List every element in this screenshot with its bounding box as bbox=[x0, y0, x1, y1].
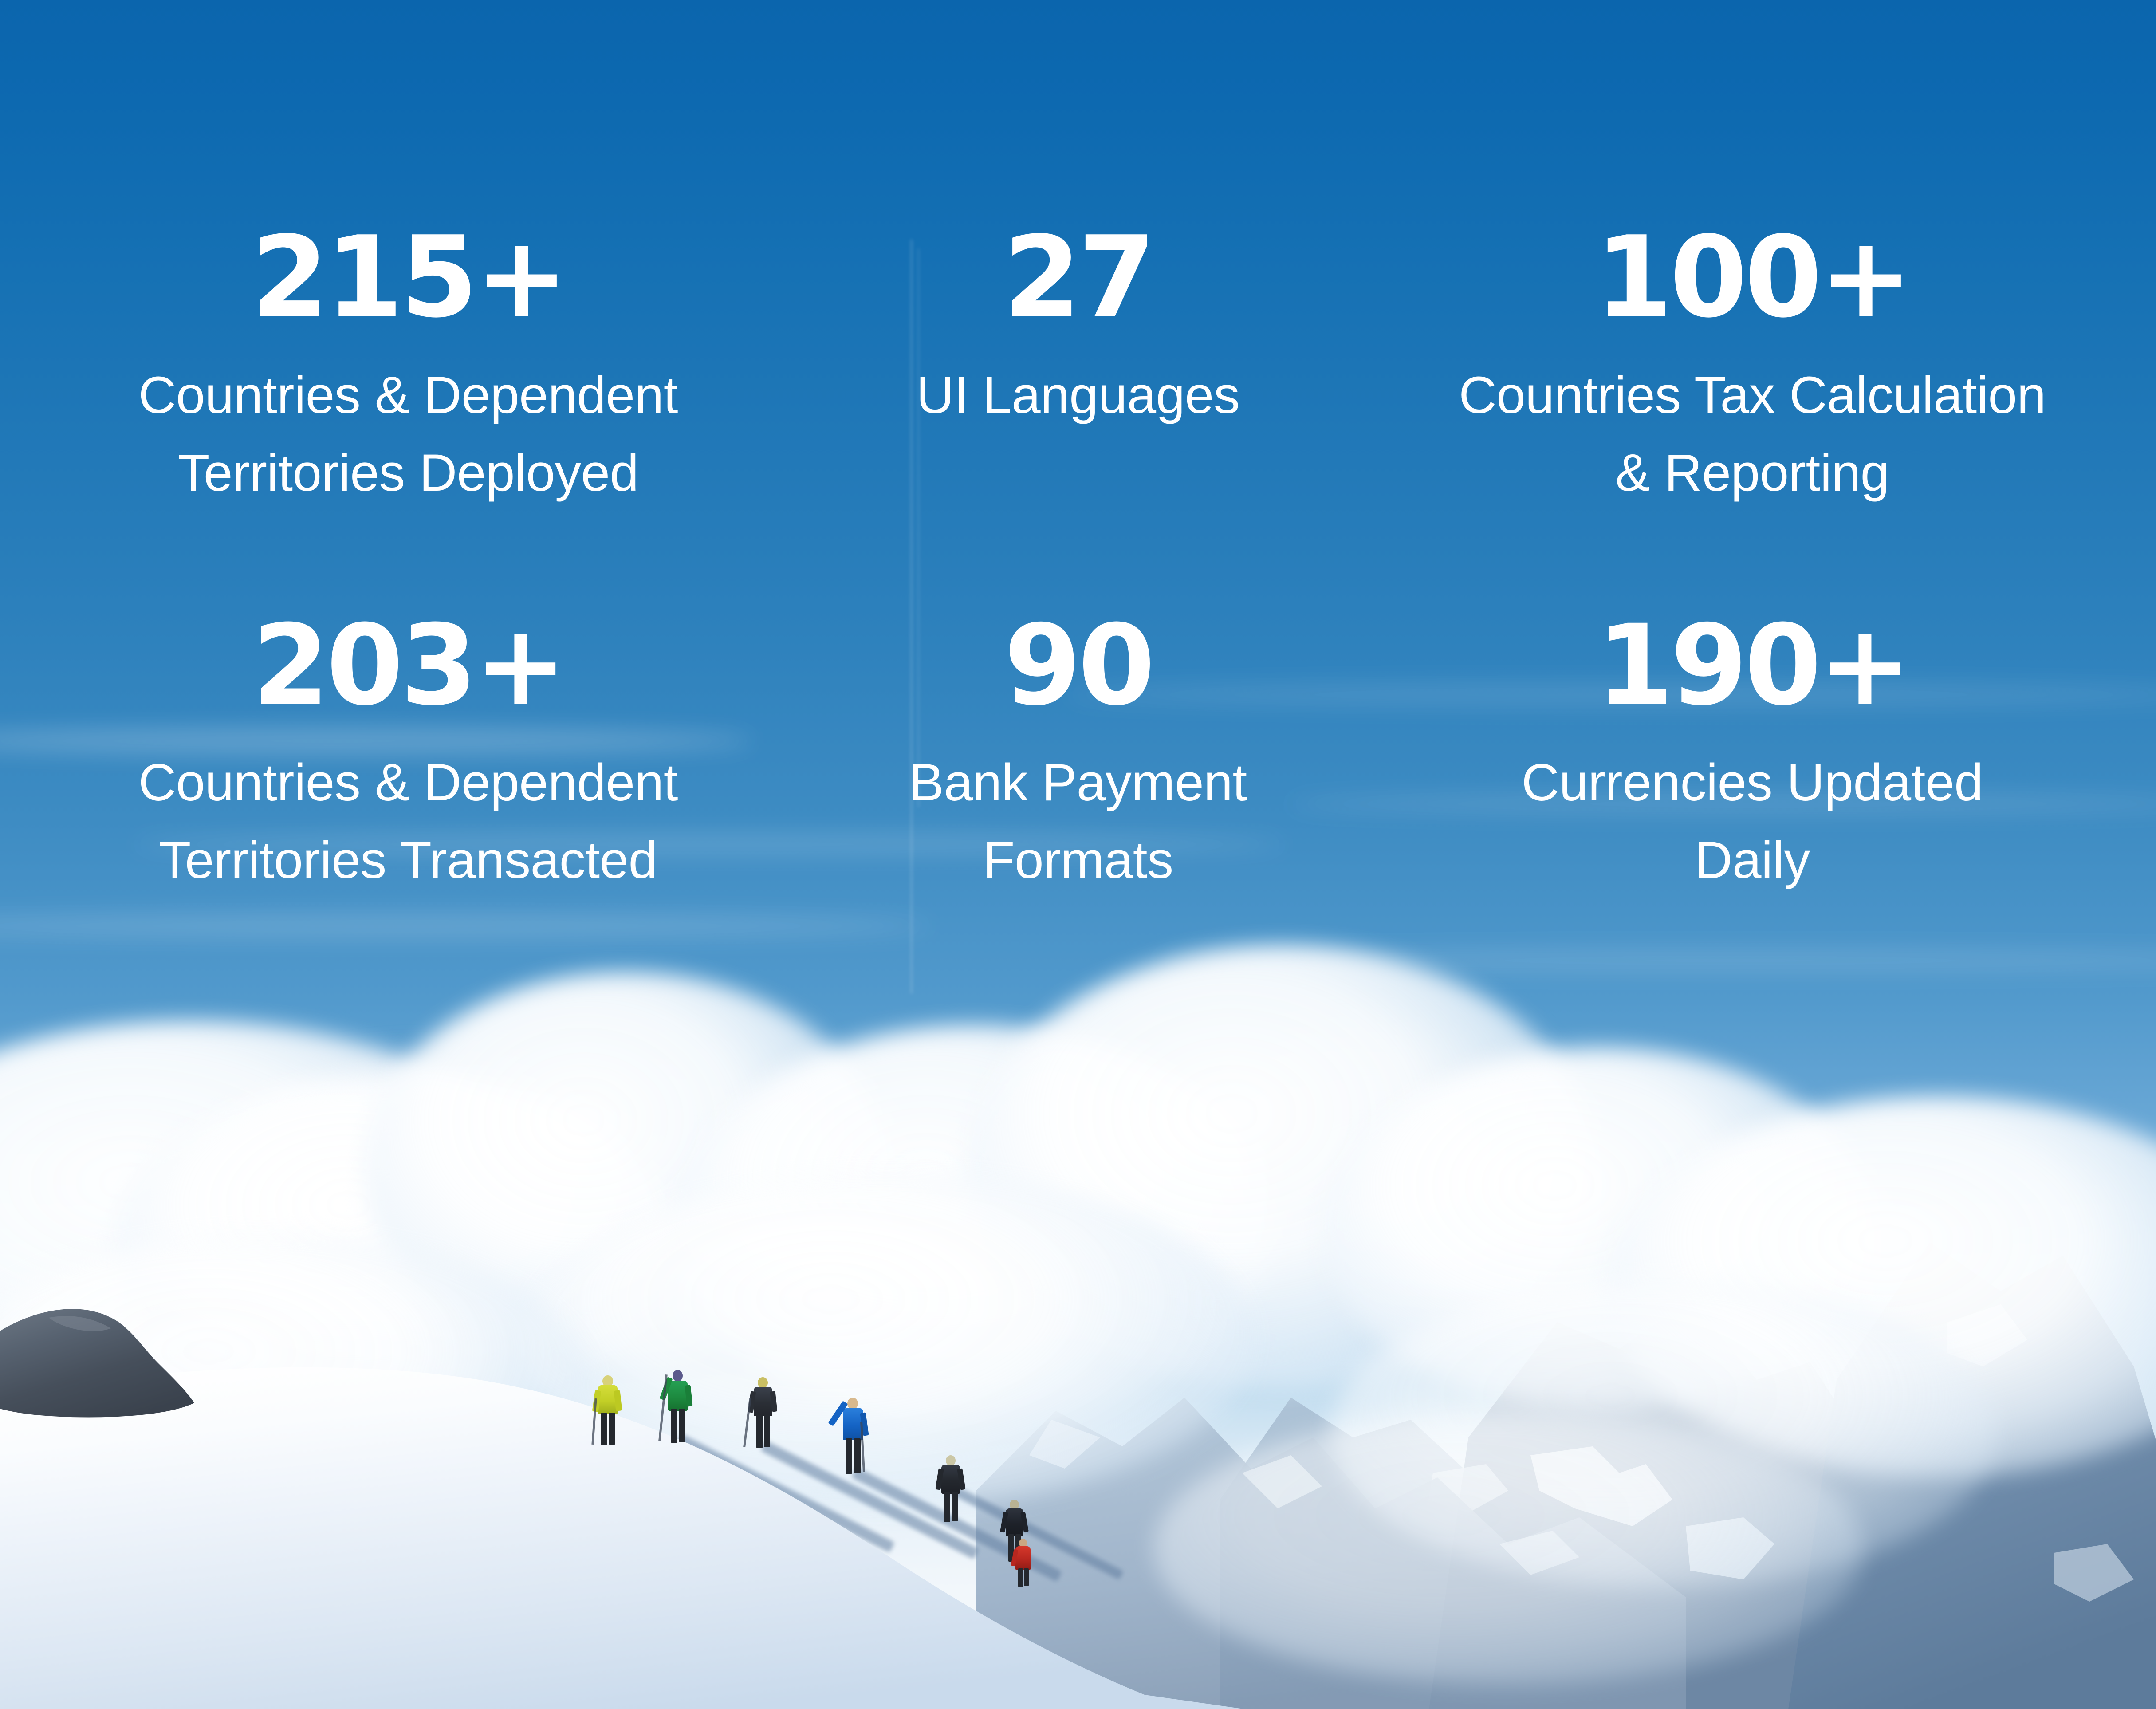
climber-head bbox=[673, 1370, 683, 1382]
stat-value: 190+ bbox=[1420, 610, 2085, 721]
stat-value: 100+ bbox=[1420, 222, 2085, 334]
climber-leg bbox=[846, 1438, 852, 1474]
stat-label: Currencies Updated Daily bbox=[1420, 744, 2085, 899]
climber-leg bbox=[671, 1409, 677, 1443]
stat-value: 215+ bbox=[80, 222, 736, 334]
trekking-pole bbox=[591, 1398, 597, 1445]
stat-value: 203+ bbox=[80, 610, 736, 721]
stat-card-bank-payment-formats: 90 Bank Payment Formats bbox=[736, 610, 1420, 998]
climber-leg bbox=[601, 1413, 607, 1445]
stat-card-currencies-updated: 190+ Currencies Updated Daily bbox=[1420, 610, 2103, 998]
climber-head bbox=[847, 1398, 858, 1410]
climber-leg bbox=[944, 1492, 950, 1522]
stat-label: Bank Payment Formats bbox=[736, 744, 1420, 899]
stat-label: Countries & Dependent Territories Transa… bbox=[80, 744, 736, 899]
stat-card-ui-languages: 27 UI Languages bbox=[736, 222, 1420, 610]
climber-leg bbox=[756, 1414, 763, 1448]
climber-leg bbox=[609, 1413, 615, 1445]
climber-leg bbox=[679, 1409, 685, 1442]
climber bbox=[663, 1370, 694, 1443]
stat-value: 27 bbox=[736, 222, 1420, 334]
climber-leg bbox=[1024, 1568, 1029, 1586]
stat-label: Countries Tax Calculation & Reporting bbox=[1420, 357, 2085, 512]
stat-card-countries-transacted: 203+ Countries & Dependent Territories T… bbox=[53, 610, 736, 998]
stat-card-countries-deployed: 215+ Countries & Dependent Territories D… bbox=[53, 222, 736, 610]
stat-label: Countries & Dependent Territories Deploy… bbox=[80, 357, 736, 512]
stat-card-tax-calculation: 100+ Countries Tax Calculation & Reporti… bbox=[1420, 222, 2103, 610]
climber-jacket bbox=[754, 1387, 772, 1416]
climber bbox=[749, 1377, 778, 1449]
stats-grid: 215+ Countries & Dependent Territories D… bbox=[0, 0, 2156, 998]
climber bbox=[834, 1397, 869, 1475]
climber bbox=[937, 1455, 966, 1523]
climber bbox=[1012, 1539, 1035, 1587]
climber-leg bbox=[854, 1438, 861, 1473]
stat-label: UI Languages bbox=[736, 357, 1420, 434]
climber-jacket bbox=[668, 1381, 688, 1411]
climber-leg bbox=[952, 1492, 958, 1521]
climber bbox=[593, 1375, 624, 1446]
climber-leg bbox=[1018, 1568, 1023, 1587]
rock-outcrop bbox=[0, 1282, 382, 1469]
stat-value: 90 bbox=[736, 610, 1420, 721]
climber-leg bbox=[764, 1414, 770, 1447]
